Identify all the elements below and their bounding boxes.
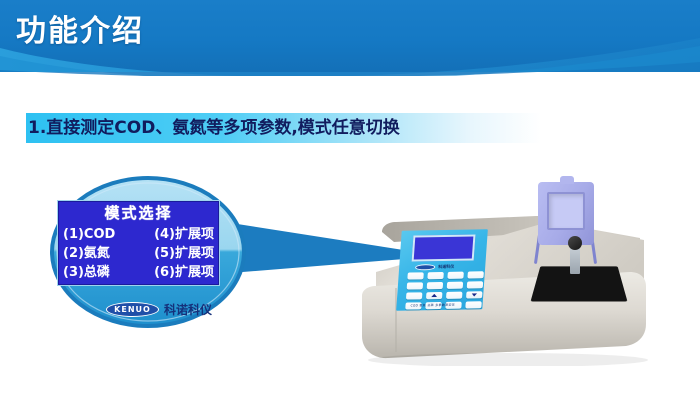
instrument-lcd-screen (412, 234, 476, 261)
brand-name: 科诺科仪 (164, 301, 212, 318)
instrument-photo: 科诺科仪 COD 氨氮 总磷 多参数测定仪 (340, 176, 650, 366)
lid-tab[interactable] (560, 176, 574, 184)
keypad-key[interactable] (427, 272, 444, 279)
slide-root: 功能介绍 1.直接测定COD、氨氮等多项参数,模式任意切换 模式选择 (0, 0, 700, 400)
keypad-key[interactable] (467, 281, 484, 288)
keypad-key[interactable] (467, 271, 484, 278)
cuvette-cap[interactable] (568, 236, 582, 250)
keypad-key[interactable] (447, 272, 464, 279)
keypad-key[interactable] (465, 301, 482, 308)
mode-option-row[interactable]: (2)氨氮 (5)扩展项 (63, 244, 214, 263)
keypad-key-up-arrow[interactable] (426, 292, 443, 299)
instrument-control-panel[interactable]: 科诺科仪 COD 氨氮 总磷 多参数测定仪 (396, 229, 488, 310)
keypad-key[interactable] (447, 282, 464, 289)
brand-badge: KENUO (106, 302, 159, 317)
mode-option-1[interactable]: (1)COD (63, 225, 115, 244)
keypad-key[interactable] (406, 292, 423, 299)
instrument-logo-text: 科诺科仪 (438, 264, 454, 270)
subtitle-text: 1.直接测定COD、氨氮等多项参数,模式任意切换 (28, 114, 400, 142)
instrument-logo-badge (415, 264, 435, 270)
page-title: 功能介绍 (16, 10, 144, 54)
header-banner: 功能介绍 (0, 0, 700, 76)
mode-option-row[interactable]: (3)总磷 (6)扩展项 (63, 263, 214, 282)
keypad-key-down-arrow[interactable] (466, 291, 483, 298)
mode-screen-title: 模式选择 (58, 201, 219, 225)
instrument-panel-footnote: COD 氨氮 总磷 多参数测定仪 (410, 303, 455, 308)
mode-screen-options: (1)COD (4)扩展项 (2)氨氮 (5)扩展项 (3)总磷 (6)扩展项 (58, 225, 219, 282)
mode-option-4[interactable]: (4)扩展项 (154, 225, 214, 244)
keypad-key[interactable] (446, 292, 463, 299)
brand-logo: KENUO 科诺科仪 (106, 301, 212, 318)
mode-option-2[interactable]: (2)氨氮 (63, 244, 110, 263)
keypad-key[interactable] (427, 282, 444, 289)
lid-window (547, 192, 585, 230)
instrument-panel-logo: 科诺科仪 (415, 264, 454, 271)
keypad-key[interactable] (407, 272, 424, 279)
mode-option-row[interactable]: (1)COD (4)扩展项 (63, 225, 214, 244)
mode-option-6[interactable]: (6)扩展项 (154, 263, 214, 282)
mode-option-3[interactable]: (3)总磷 (63, 263, 110, 282)
keypad-key[interactable] (407, 282, 424, 289)
sample-compartment-lid[interactable] (538, 182, 594, 245)
mode-option-5[interactable]: (5)扩展项 (154, 244, 214, 263)
mode-selection-screen: 模式选择 (1)COD (4)扩展项 (2)氨氮 (5)扩展项 (3)总磷 (6… (57, 200, 220, 286)
